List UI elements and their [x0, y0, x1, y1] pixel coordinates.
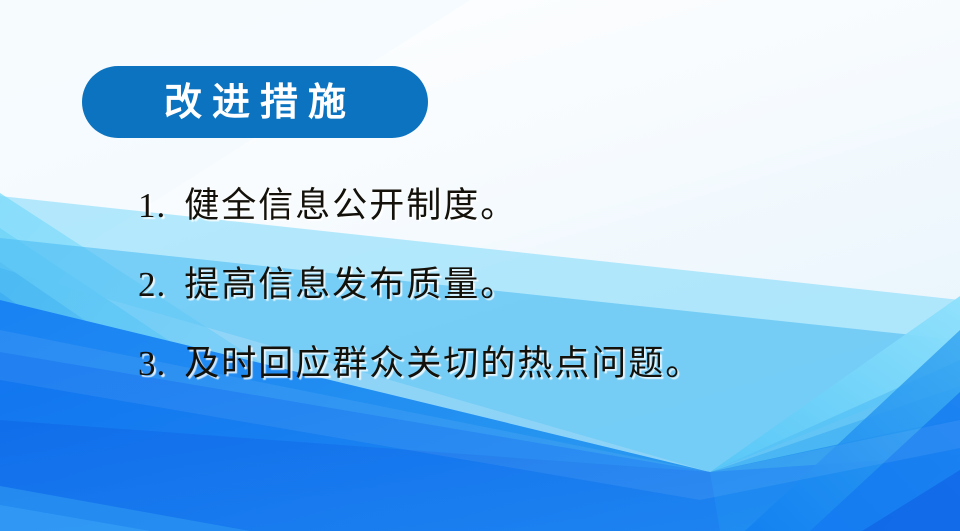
list-item-number: 2.: [138, 267, 166, 302]
measure-list: 1. 健全信息公开制度。 2. 提高信息发布质量。 3. 及时回应群众关切的热点…: [138, 188, 928, 425]
list-item: 3. 及时回应群众关切的热点问题。: [138, 346, 928, 425]
list-item-text: 健全信息公开制度。: [184, 189, 517, 224]
title-pill: 改进措施: [82, 66, 428, 138]
slide-content: 改进措施 1. 健全信息公开制度。 2. 提高信息发布质量。 3. 及时回应群众…: [0, 0, 960, 531]
list-item-number: 3.: [138, 346, 166, 381]
list-item-number: 1.: [138, 188, 166, 223]
list-item: 1. 健全信息公开制度。: [138, 188, 928, 267]
list-item-text: 提高信息发布质量。: [184, 268, 517, 303]
page-title: 改进措施: [154, 83, 356, 121]
slide-canvas: 改进措施 1. 健全信息公开制度。 2. 提高信息发布质量。 3. 及时回应群众…: [0, 0, 960, 531]
list-item-text: 及时回应群众关切的热点问题。: [184, 347, 702, 382]
list-item: 2. 提高信息发布质量。: [138, 267, 928, 346]
